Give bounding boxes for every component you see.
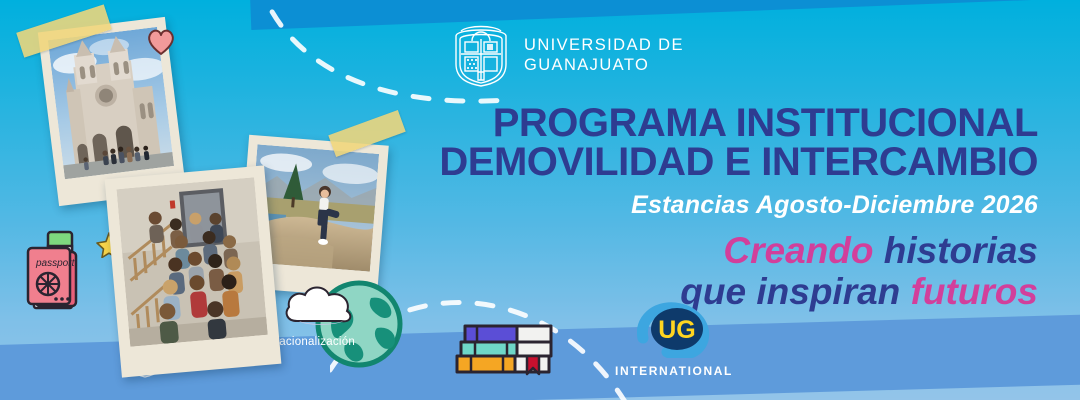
ug-monogram-text: UG xyxy=(658,316,696,344)
university-name: UNIVERSIDAD DE GUANAJUATO xyxy=(524,35,684,75)
photo-image-staircase-group xyxy=(117,177,268,346)
tagline-word-creando: Creando xyxy=(723,230,873,271)
tagline-line1: Creando historias xyxy=(430,232,1038,269)
title-block: PROGRAMA INSTITUCIONAL DEMOVILIDAD E INT… xyxy=(430,104,1058,220)
ug-international-label: INTERNATIONAL xyxy=(615,364,733,378)
promotional-banner: passport xyxy=(0,0,1080,400)
heart-sticker-icon xyxy=(146,28,176,56)
program-title-line1: PROGRAMA INSTITUCIONAL xyxy=(430,104,1038,143)
program-subtitle: Estancias Agosto-Diciembre 2026 xyxy=(430,191,1038,220)
stacked-books-icon xyxy=(451,306,557,376)
photo-students-staircase xyxy=(105,165,282,377)
passport-label: passport xyxy=(35,258,76,269)
program-title-line2: DEMOVILIDAD E INTERCAMBIO xyxy=(430,143,1038,182)
ug-international-logo: UG INTERNATIONAL xyxy=(615,302,733,378)
ug-shield-icon xyxy=(452,22,510,88)
university-name-line1: UNIVERSIDAD DE xyxy=(524,35,684,55)
tagline-block: Creando historias que inspiran futuros xyxy=(430,232,1058,310)
tagline-word-historias: historias xyxy=(884,230,1038,271)
university-name-line2: GUANAJUATO xyxy=(524,55,684,75)
passport-icon: passport xyxy=(22,228,84,314)
university-header: UNIVERSIDAD DE GUANAJUATO xyxy=(452,22,1058,88)
ug-monogram-icon: UG xyxy=(637,302,711,358)
